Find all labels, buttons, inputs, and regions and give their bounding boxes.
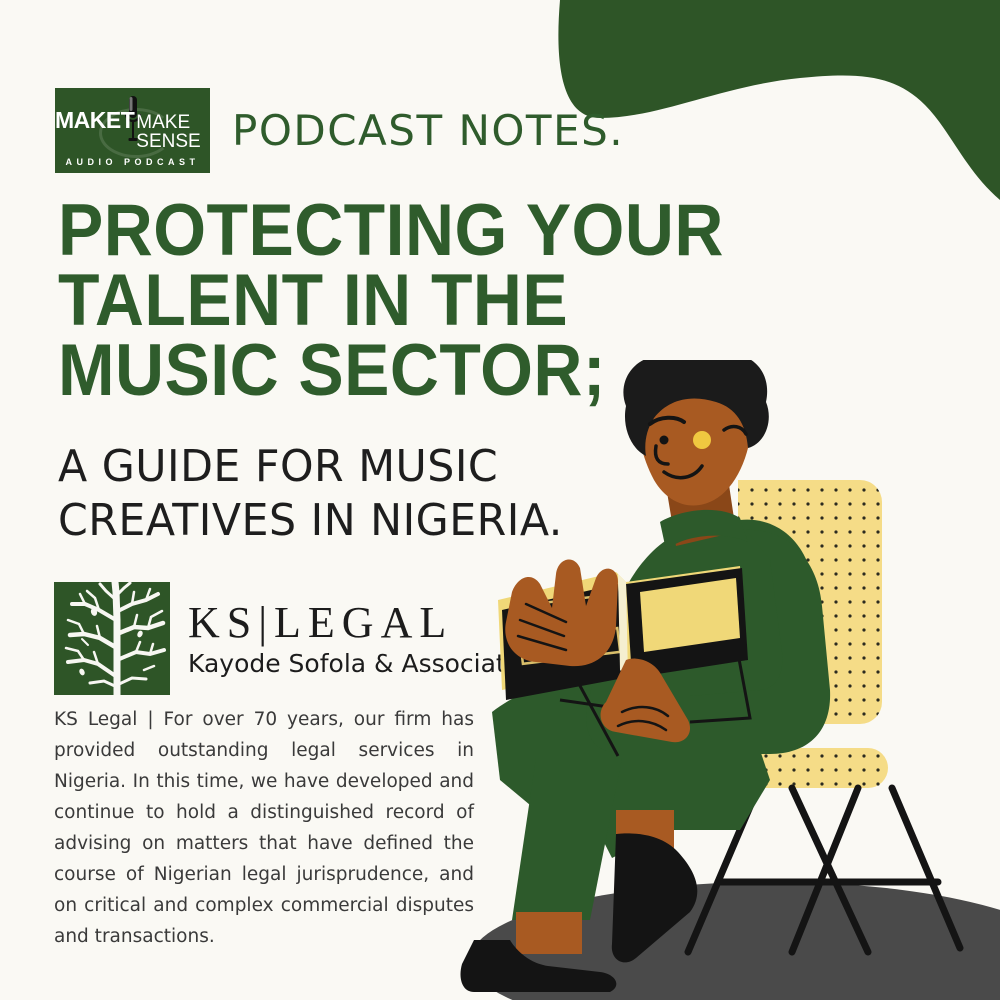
leg-front: [512, 758, 622, 920]
section-label: PODCAST NOTES.: [232, 106, 624, 155]
ankle-back: [616, 810, 674, 862]
ankle-front: [516, 912, 582, 954]
logo-word-it: T: [121, 109, 135, 132]
podcast-logo-wordmark: MAKE T MAKE SENSE: [55, 109, 210, 151]
podcast-logo: MAKE T MAKE SENSE AUDIO PODCAST: [55, 88, 210, 173]
podcast-logo-tagline: AUDIO PODCAST: [65, 157, 199, 167]
firm-description: KS Legal | For over 70 years, our firm h…: [54, 704, 474, 952]
hand-holding: [601, 659, 690, 743]
lapel-line: [560, 700, 672, 716]
sleeve-crease: [690, 632, 750, 722]
eyebrow-far: [724, 427, 746, 434]
firm-logo-block: KS|LEGAL Kayode Sofola & Associates: [54, 582, 534, 695]
shoe-front: [461, 940, 617, 992]
shoe-back: [612, 833, 697, 962]
header-row: MAKE T MAKE SENSE AUDIO PODCAST PODCAST …: [55, 88, 624, 173]
poster-canvas: MAKE T MAKE SENSE AUDIO PODCAST PODCAST …: [0, 0, 1000, 1000]
tree-icon: [54, 582, 170, 695]
chair-legs: [688, 788, 960, 952]
page-title: PROTECTING YOUR TALENT IN THE MUSIC SECT…: [58, 196, 765, 406]
firm-tagline: Kayode Sofola & Associates: [188, 651, 534, 676]
torso-suit: [586, 520, 822, 752]
open-book: [498, 566, 748, 700]
firm-wordmark: KS|LEGAL Kayode Sofola & Associates: [188, 601, 534, 676]
logo-word-make: MAKE: [55, 109, 121, 132]
arm-sleeve: [690, 530, 830, 754]
trouser-crease: [566, 660, 618, 756]
polka-dot-chair: [738, 480, 890, 788]
leg-back: [550, 689, 668, 858]
page-subtitle: A GUIDE FOR MUSIC CREATIVES IN NIGERIA.: [58, 440, 698, 548]
logo-word-make-sense: MAKE SENSE: [136, 113, 210, 151]
eyebrow: [650, 418, 684, 424]
firm-name: KS|LEGAL: [188, 601, 534, 645]
ground-ellipse: [470, 882, 1000, 1000]
